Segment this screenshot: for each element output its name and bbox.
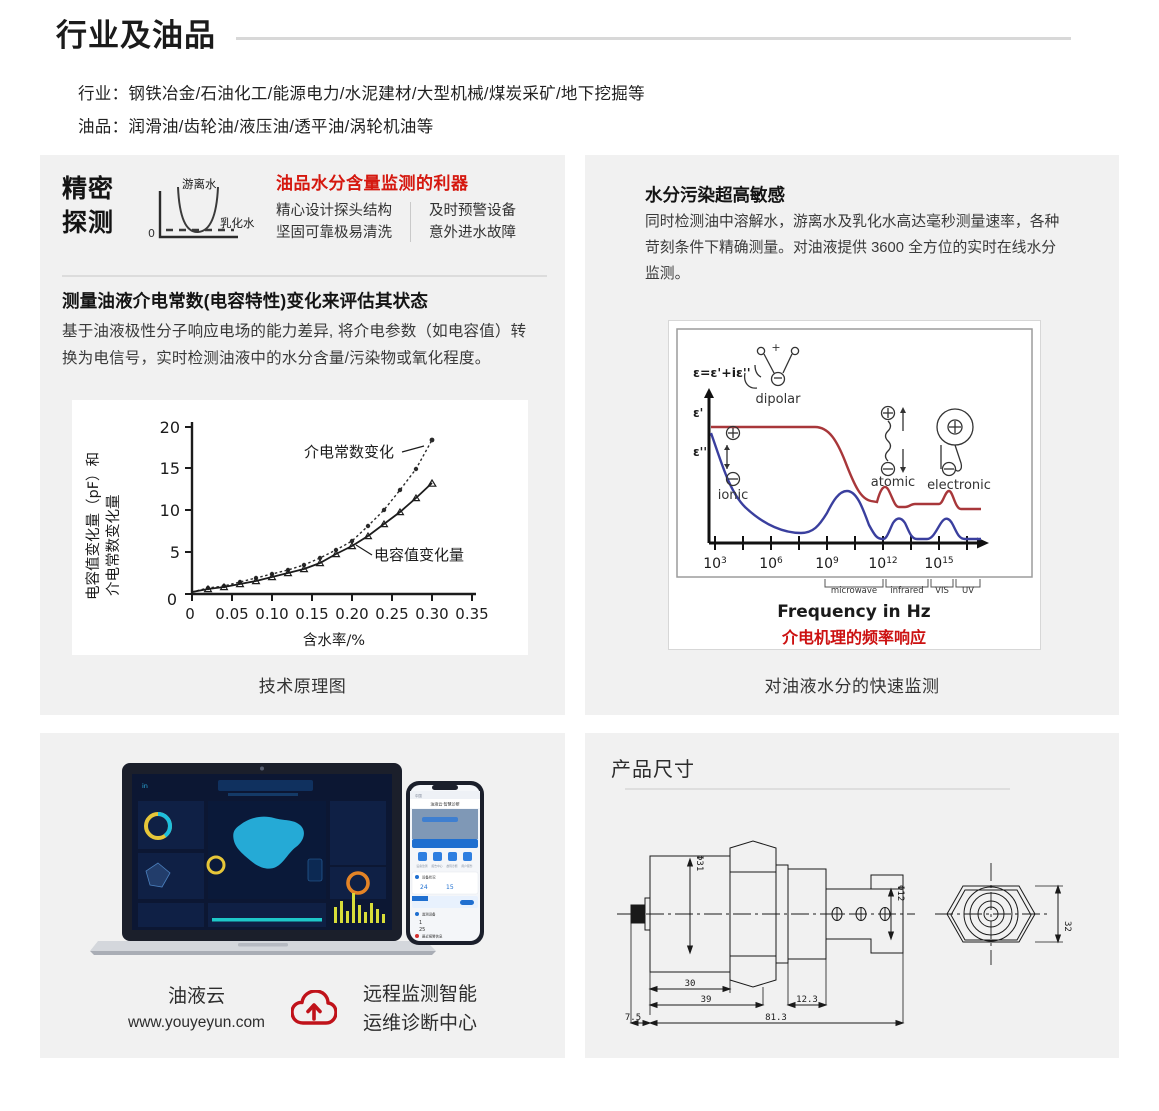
- dim-32: 32: [1062, 921, 1072, 932]
- panel-product-dimensions: 产品尺寸: [585, 733, 1119, 1058]
- svg-text:0.20: 0.20: [335, 605, 368, 623]
- feature-text: 精心设计探头结构: [276, 200, 392, 222]
- svg-text:5: 5: [170, 543, 180, 562]
- svg-text:设备状况: 设备状况: [422, 875, 436, 880]
- panel-principle: 精密 探测 0 游离水 乳化水 油品水分含量监测的利器 精心设计探头: [40, 155, 565, 715]
- remote-line-1: 远程监测智能: [363, 980, 477, 1009]
- page-header: 行业及油品: [56, 14, 1111, 64]
- principle-paragraph: 基于油液极性分子响应电场的能力差异, 将介电参数（如电容值）转换为电信号，实时检…: [62, 318, 530, 372]
- precision-feature-col-left: 精心设计探头结构 坚固可靠极易清洗: [276, 200, 392, 244]
- svg-text:0: 0: [167, 590, 177, 609]
- dim-39: 39: [701, 995, 712, 1005]
- svg-text:0.25: 0.25: [375, 605, 408, 623]
- sensitivity-heading: 水分污染超高敏感: [645, 182, 785, 207]
- svg-text:0.15: 0.15: [295, 605, 328, 623]
- feature-text: 坚固可靠极易清洗: [276, 222, 392, 244]
- svg-text:15: 15: [160, 459, 180, 478]
- principle-heading: 测量油液介电常数(电容特性)变化来评估其状态: [62, 288, 551, 313]
- water-layer-mini-diagram: 0 游离水 乳化水: [146, 175, 264, 251]
- remote-line-2: 运维诊断中心: [363, 1009, 477, 1038]
- cloud-brand-row: 油液云 www.youyeyun.com 远程监测智能 运维诊断中心: [40, 978, 565, 1040]
- dim-phi31: Φ31: [694, 855, 704, 871]
- svg-text:监测设备: 监测设备: [422, 912, 436, 917]
- principle-caption: 技术原理图: [40, 672, 565, 697]
- column-divider: [410, 202, 411, 242]
- svg-text:报告中心: 报告中心: [431, 864, 442, 868]
- precision-feature-columns: 精心设计探头结构 坚固可靠极易清洗 及时预警设备 意外进水故障: [276, 200, 547, 244]
- svg-text:0.05: 0.05: [215, 605, 248, 623]
- precision-title-line2: 探测: [62, 206, 114, 240]
- precision-title: 精密 探测: [62, 172, 114, 240]
- annotation-dielectric: 介电常数变化: [304, 443, 394, 461]
- y-axis-label-1: 电容值变化量（pF）和: [85, 452, 102, 600]
- annotation-capacitance: 电容值变化量: [374, 546, 464, 564]
- dimensions-rule: [625, 788, 1010, 790]
- svg-text:油液云·智慧诊断: 油液云·智慧诊断: [430, 801, 459, 807]
- svg-text:0.30: 0.30: [415, 605, 448, 623]
- cloud-brand: 油液云 www.youyeyun.com: [128, 983, 265, 1035]
- svg-text:0.35: 0.35: [455, 605, 488, 623]
- svg-text:+: +: [771, 341, 780, 354]
- svg-text:VIS: VIS: [935, 586, 949, 596]
- page-title: 行业及油品: [56, 14, 216, 58]
- svg-text:故障诊断: 故障诊断: [446, 864, 457, 868]
- dielectric-frequency-figure: ε=ε'+iε'': [668, 320, 1041, 650]
- svg-text:15: 15: [446, 884, 454, 891]
- permittivity-equation: ε=ε'+iε'': [693, 365, 751, 380]
- cloud-url[interactable]: www.youyeyun.com: [128, 1011, 265, 1035]
- mini-free-water-label: 游离水: [182, 177, 217, 191]
- svg-text:设备监测: 设备监测: [416, 864, 427, 868]
- y-axis-label-2: 介电常数变化量: [105, 495, 122, 597]
- freq-figure-caption: 介电机理的频率响应: [781, 628, 926, 647]
- sensitivity-caption: 对油液水分的快速监测: [585, 672, 1119, 697]
- freq-axis-title: Frequency in Hz: [777, 602, 930, 622]
- svg-text:infrared: infrared: [890, 586, 923, 596]
- industry-line: 行业：钢铁冶金/石油化工/能源电力/水泥建材/大型机械/煤炭采矿/地下挖掘等: [78, 80, 645, 104]
- oil-types-line: 油品：润滑油/齿轮油/液压油/透平油/涡轮机油等: [78, 113, 434, 137]
- svg-text:最近报警信息: 最近报警信息: [422, 934, 443, 939]
- series-capacitance-markers: [205, 480, 436, 592]
- epsilon-real-label: ε': [693, 406, 703, 420]
- svg-text:24: 24: [420, 884, 428, 891]
- mini-emulsified-water-label: 乳化水: [220, 216, 255, 230]
- x-ticks: 0 0.05 0.10 0.15 0.20 0.25 0.30 0.35: [185, 594, 488, 623]
- sensitivity-paragraph: 同时检测油中溶解水，游离水及乳化水高达毫秒测量速率，各种苛刻条件下精确测量。对油…: [645, 209, 1069, 287]
- epsilon-imag-label: ε'': [693, 445, 707, 459]
- series-capacitance: [192, 483, 432, 592]
- x-axis-label: 含水率/%: [303, 632, 365, 649]
- svg-text:UV: UV: [962, 586, 974, 596]
- precision-red-headline: 油品水分含量监测的利器: [276, 169, 547, 194]
- dim-phi12: Φ12: [895, 885, 905, 901]
- dimensions-title: 产品尺寸: [611, 753, 695, 782]
- dim-12-3: 12.3: [796, 995, 818, 1005]
- precision-feature-col-right: 及时预警设备 意外进水故障: [429, 200, 516, 244]
- svg-text:10: 10: [160, 501, 180, 520]
- cloud-upload-icon: [291, 990, 337, 1028]
- product-spec-page: 行业及油品 行业：钢铁冶金/石油化工/能源电力/水泥建材/大型机械/煤炭采矿/地…: [0, 0, 1159, 1111]
- remote-center-text: 远程监测智能 运维诊断中心: [363, 980, 477, 1038]
- precision-title-line1: 精密: [62, 172, 114, 206]
- dim-30: 30: [685, 979, 696, 989]
- svg-text:0.10: 0.10: [255, 605, 288, 623]
- svg-text:20: 20: [160, 418, 180, 437]
- principle-chart: 电容值变化量（pF）和 介电常数变化量 0 5 10 15 20: [72, 400, 528, 655]
- panel-sensitivity: 水分污染超高敏感 同时检测油中溶解水，游离水及乳化水高达毫秒测量速率，各种苛刻条…: [585, 155, 1119, 715]
- label-electronic: electronic: [927, 478, 991, 493]
- label-atomic: atomic: [871, 475, 915, 490]
- section-divider: [62, 275, 547, 277]
- label-dipolar: dipolar: [756, 392, 802, 407]
- svg-text:25: 25: [419, 927, 425, 933]
- svg-text:1: 1: [419, 920, 422, 926]
- title-rule: [236, 37, 1071, 40]
- precision-detect-block: 精密 探测 0 游离水 乳化水 油品水分含量监测的利器 精心设计探头: [62, 169, 547, 264]
- cloud-name: 油液云: [128, 983, 265, 1011]
- dim-81-3: 81.3: [765, 1013, 787, 1023]
- precision-right-column: 油品水分含量监测的利器 精心设计探头结构 坚固可靠极易清洗 及时预警设备 意外进…: [276, 169, 547, 244]
- dashboard-devices-image: in: [88, 755, 518, 970]
- mini-zero-label: 0: [148, 227, 155, 240]
- y-ticks: 0 5 10 15 20: [160, 418, 192, 609]
- svg-text:用户服务: 用户服务: [461, 864, 472, 868]
- dimensions-header: 产品尺寸: [611, 753, 1097, 783]
- label-ionic: ionic: [718, 488, 749, 503]
- svg-text:microwave: microwave: [831, 586, 877, 596]
- svg-text:in: in: [142, 782, 148, 790]
- dim-7-5: 7.5: [625, 1013, 641, 1023]
- feature-text: 及时预警设备: [429, 200, 516, 222]
- panel-cloud-platform: in: [40, 733, 565, 1058]
- svg-text:0: 0: [185, 605, 195, 623]
- feature-text: 意外进水故障: [429, 222, 516, 244]
- sensor-technical-drawing: Φ31 Φ12 30 39 12.3 7.5 81.3 32: [603, 793, 1103, 1043]
- svg-text:中国: 中国: [415, 793, 422, 798]
